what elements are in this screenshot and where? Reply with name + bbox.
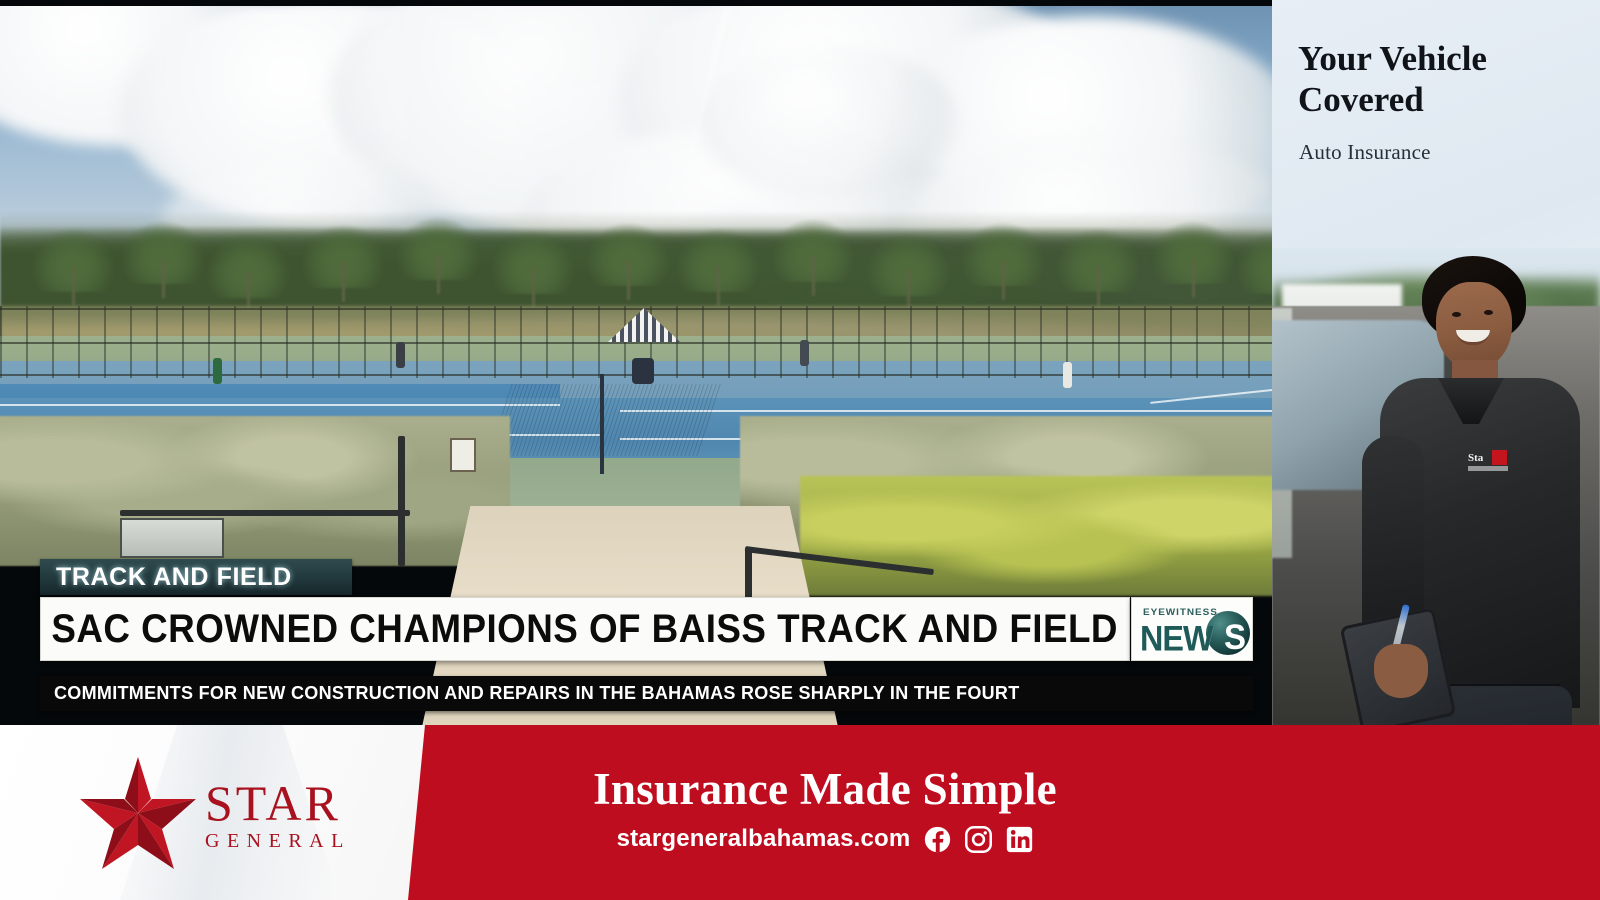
agent-badge-text: Sta	[1468, 452, 1483, 464]
ad-heading-line1: Your Vehicle	[1298, 38, 1568, 79]
palm-tree	[1055, 228, 1141, 292]
palm-tree	[1150, 220, 1236, 284]
palm-tree	[865, 232, 951, 296]
handrail-post	[398, 436, 405, 566]
facebook-icon[interactable]	[924, 826, 951, 853]
palm-tree	[490, 230, 576, 294]
brand-sub: GENERAL	[205, 830, 351, 853]
tennis-player	[800, 340, 809, 366]
ad-heading-line2: Covered	[1298, 79, 1568, 120]
banner-tagline: Insurance Made Simple	[425, 763, 1225, 815]
agent-badge-star-icon	[1492, 450, 1507, 465]
court-line	[620, 410, 1300, 412]
handrail-post	[745, 548, 752, 658]
court-sign	[450, 438, 476, 472]
handrail	[120, 510, 410, 516]
star-general-wordmark: STAR GENERAL	[205, 779, 351, 853]
court-line	[0, 404, 560, 406]
tennis-player	[1063, 362, 1072, 388]
palm-tree	[300, 224, 386, 288]
palm-tree	[120, 220, 206, 284]
fence-rail	[0, 308, 1300, 310]
ad-heading: Your Vehicle Covered	[1298, 38, 1568, 121]
website-url[interactable]: stargeneralbahamas.com	[617, 825, 911, 853]
tennis-player	[396, 342, 405, 368]
brand-word: STAR	[205, 779, 351, 827]
tennis-net	[488, 384, 721, 456]
video-player[interactable]: TRACK AND FIELD SAC CROWNED CHAMPIONS OF…	[0, 0, 1300, 733]
ad-subheading: Auto Insurance	[1299, 140, 1431, 165]
palm-tree	[675, 228, 761, 292]
court-equipment	[632, 358, 654, 384]
palm-tree	[770, 218, 856, 282]
sponsor-banner[interactable]: STAR GENERAL Insurance Made Simple starg…	[0, 725, 1600, 900]
broadcast-stream-stage: TRACK AND FIELD SAC CROWNED CHAMPIONS OF…	[0, 0, 1600, 900]
palm-tree	[960, 222, 1046, 286]
agent-eye	[1484, 310, 1493, 315]
ac-unit	[120, 518, 224, 558]
hedge-yellow-foliage	[800, 476, 1300, 596]
palm-tree	[395, 216, 481, 280]
hedge-left	[0, 416, 510, 566]
palm-tree	[30, 228, 116, 292]
banner-contact-row: stargeneralbahamas.com	[425, 825, 1225, 853]
agent-badge-underline	[1468, 466, 1508, 471]
video-frame	[0, 6, 1300, 728]
walkway	[420, 506, 840, 728]
agent-hand	[1374, 644, 1428, 698]
instagram-icon[interactable]	[965, 826, 992, 853]
agent-eye	[1452, 312, 1461, 317]
tennis-player	[213, 358, 222, 384]
star-general-star-icon	[78, 755, 198, 871]
fence-rail	[0, 342, 1300, 344]
agent-face	[1436, 282, 1512, 370]
palm-tree	[585, 222, 671, 286]
cloud	[700, 46, 960, 196]
palm-tree	[205, 234, 291, 298]
linkedin-icon[interactable]	[1006, 826, 1033, 853]
